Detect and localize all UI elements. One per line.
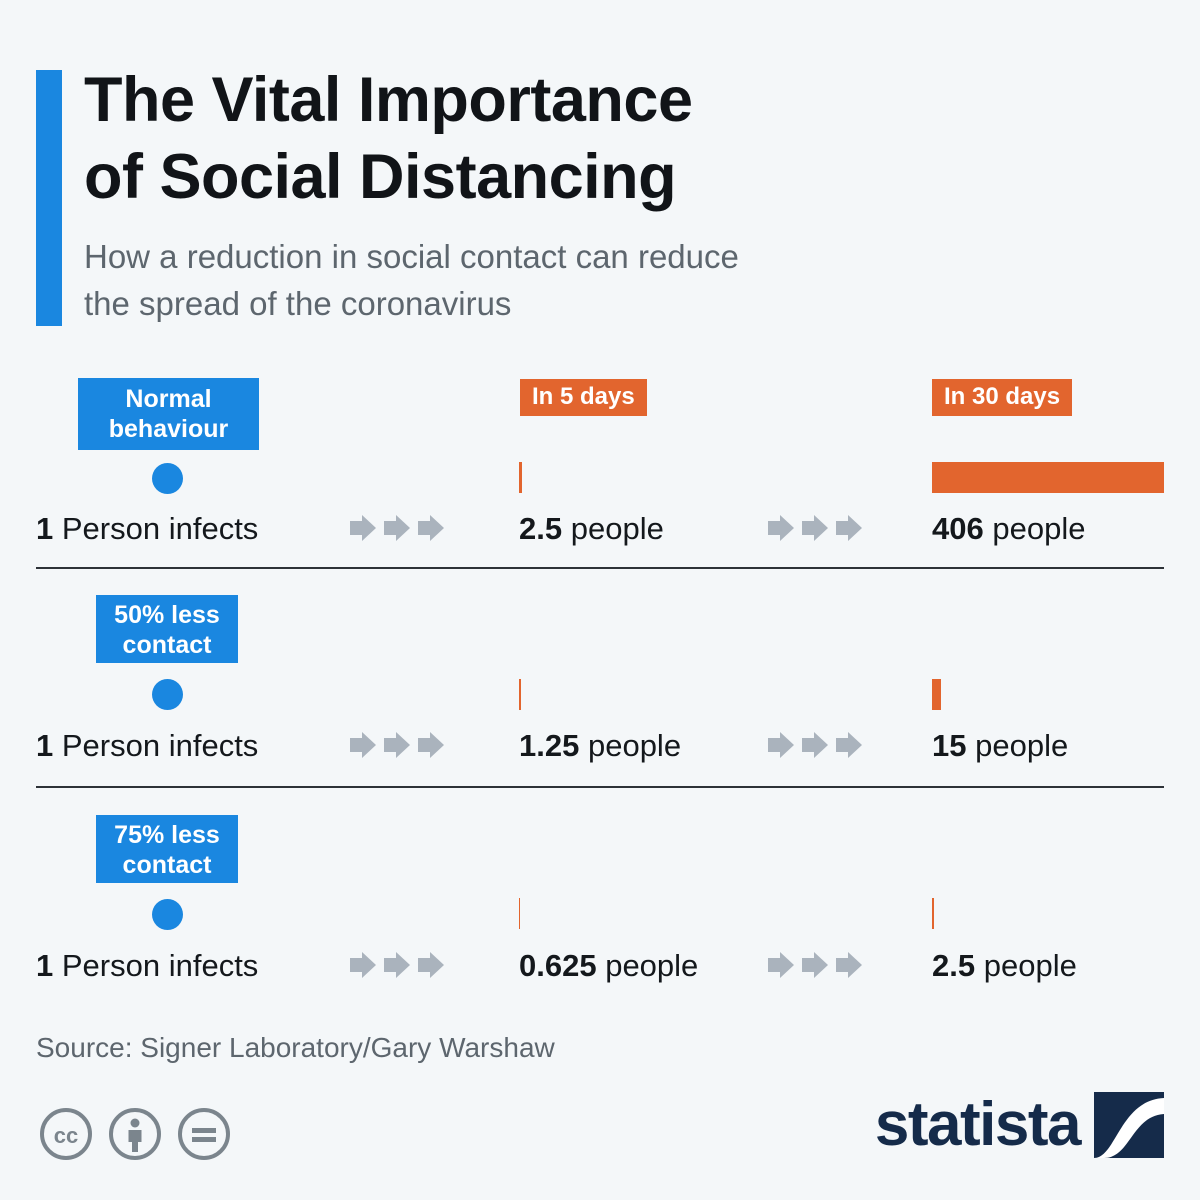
row-1-d5-number: 1.25 (519, 728, 579, 763)
statista-wordmark: statista (875, 1094, 1080, 1156)
right-arrow-icon (834, 729, 864, 761)
row-2-start-unit: Person infects (62, 948, 258, 983)
scenario-badge-normal: Normal behaviour (78, 378, 259, 450)
row-1-d5-label: 1.25 people (519, 730, 681, 761)
row-0-start-number: 1 (36, 511, 53, 546)
right-arrow-icon (348, 512, 378, 544)
infographic-canvas: The Vital Importance of Social Distancin… (0, 0, 1200, 1200)
row-0-d5-unit: people (571, 511, 664, 546)
right-arrow-icon (834, 512, 864, 544)
arrow-group-icon (348, 512, 446, 544)
right-arrow-icon (348, 729, 378, 761)
row-0-d30-label: 406 people (932, 513, 1085, 544)
row-0-start-unit: Person infects (62, 511, 258, 546)
right-arrow-icon (382, 729, 412, 761)
person-dot-marker (152, 679, 183, 710)
right-arrow-icon (416, 512, 446, 544)
right-arrow-icon (382, 949, 412, 981)
right-arrow-icon (348, 949, 378, 981)
bar-5-days-50-less (519, 679, 521, 710)
row-0-d5-number: 2.5 (519, 511, 562, 546)
right-arrow-icon (766, 729, 796, 761)
right-arrow-icon (382, 512, 412, 544)
creative-commons-license-icons: cc (38, 1106, 232, 1162)
row-2-d5-number: 0.625 (519, 948, 597, 983)
person-dot-marker (152, 899, 183, 930)
column-badge-5-days: In 5 days (520, 379, 647, 416)
row-0-d30-number: 406 (932, 511, 984, 546)
scenario-badge-75-less: 75% less contact (96, 815, 238, 883)
row-0-start-label: 1 Person infects (36, 513, 258, 544)
row-2-d30-number: 2.5 (932, 948, 975, 983)
bar-30-days-50-less (932, 679, 941, 710)
bar-5-days-normal (519, 462, 522, 493)
arrow-group-icon (766, 512, 864, 544)
right-arrow-icon (766, 512, 796, 544)
source-note: Source: Signer Laboratory/Gary Warshaw (36, 1032, 555, 1064)
column-badge-30-days: In 30 days (932, 379, 1072, 416)
row-1-d5-unit: people (588, 728, 681, 763)
row-2-d5-unit: people (605, 948, 698, 983)
arrow-group-icon (766, 949, 864, 981)
row-2-d30-unit: people (984, 948, 1077, 983)
row-0-d30-unit: people (992, 511, 1085, 546)
title-accent-bar (36, 70, 62, 326)
person-dot-marker (152, 463, 183, 494)
row-1-start-number: 1 (36, 728, 53, 763)
arrow-group-icon (348, 949, 446, 981)
header: The Vital Importance of Social Distancin… (36, 68, 1166, 330)
row-2-d5-label: 0.625 people (519, 950, 698, 981)
statista-mark-icon (1094, 1092, 1164, 1158)
bar-5-days-75-less (519, 898, 520, 929)
right-arrow-icon (800, 729, 830, 761)
right-arrow-icon (416, 729, 446, 761)
cc-by-person-icon (107, 1106, 163, 1162)
row-2-start-number: 1 (36, 948, 53, 983)
row-1-d30-unit: people (975, 728, 1068, 763)
row-2-d30-label: 2.5 people (932, 950, 1077, 981)
bar-30-days-normal (932, 462, 1164, 493)
statista-logo: statista (875, 1092, 1164, 1158)
right-arrow-icon (800, 512, 830, 544)
row-0-d5-label: 2.5 people (519, 513, 664, 544)
row-1-d30-number: 15 (932, 728, 966, 763)
right-arrow-icon (416, 949, 446, 981)
arrow-group-icon (766, 729, 864, 761)
row-1-start-unit: Person infects (62, 728, 258, 763)
row-separator (36, 567, 1164, 569)
row-2-start-label: 1 Person infects (36, 950, 258, 981)
cc-nd-equals-icon (176, 1106, 232, 1162)
svg-text:cc: cc (54, 1123, 78, 1148)
arrow-group-icon (348, 729, 446, 761)
row-1-start-label: 1 Person infects (36, 730, 258, 761)
header-text-block: The Vital Importance of Social Distancin… (84, 62, 1084, 327)
right-arrow-icon (800, 949, 830, 981)
page-title: The Vital Importance of Social Distancin… (84, 62, 1084, 216)
cc-icon: cc (38, 1106, 94, 1162)
scenario-badge-50-less: 50% less contact (96, 595, 238, 663)
bar-30-days-75-less (932, 898, 934, 929)
right-arrow-icon (834, 949, 864, 981)
page-subtitle: How a reduction in social contact can re… (84, 234, 1084, 328)
row-separator (36, 786, 1164, 788)
right-arrow-icon (766, 949, 796, 981)
row-1-d30-label: 15 people (932, 730, 1068, 761)
